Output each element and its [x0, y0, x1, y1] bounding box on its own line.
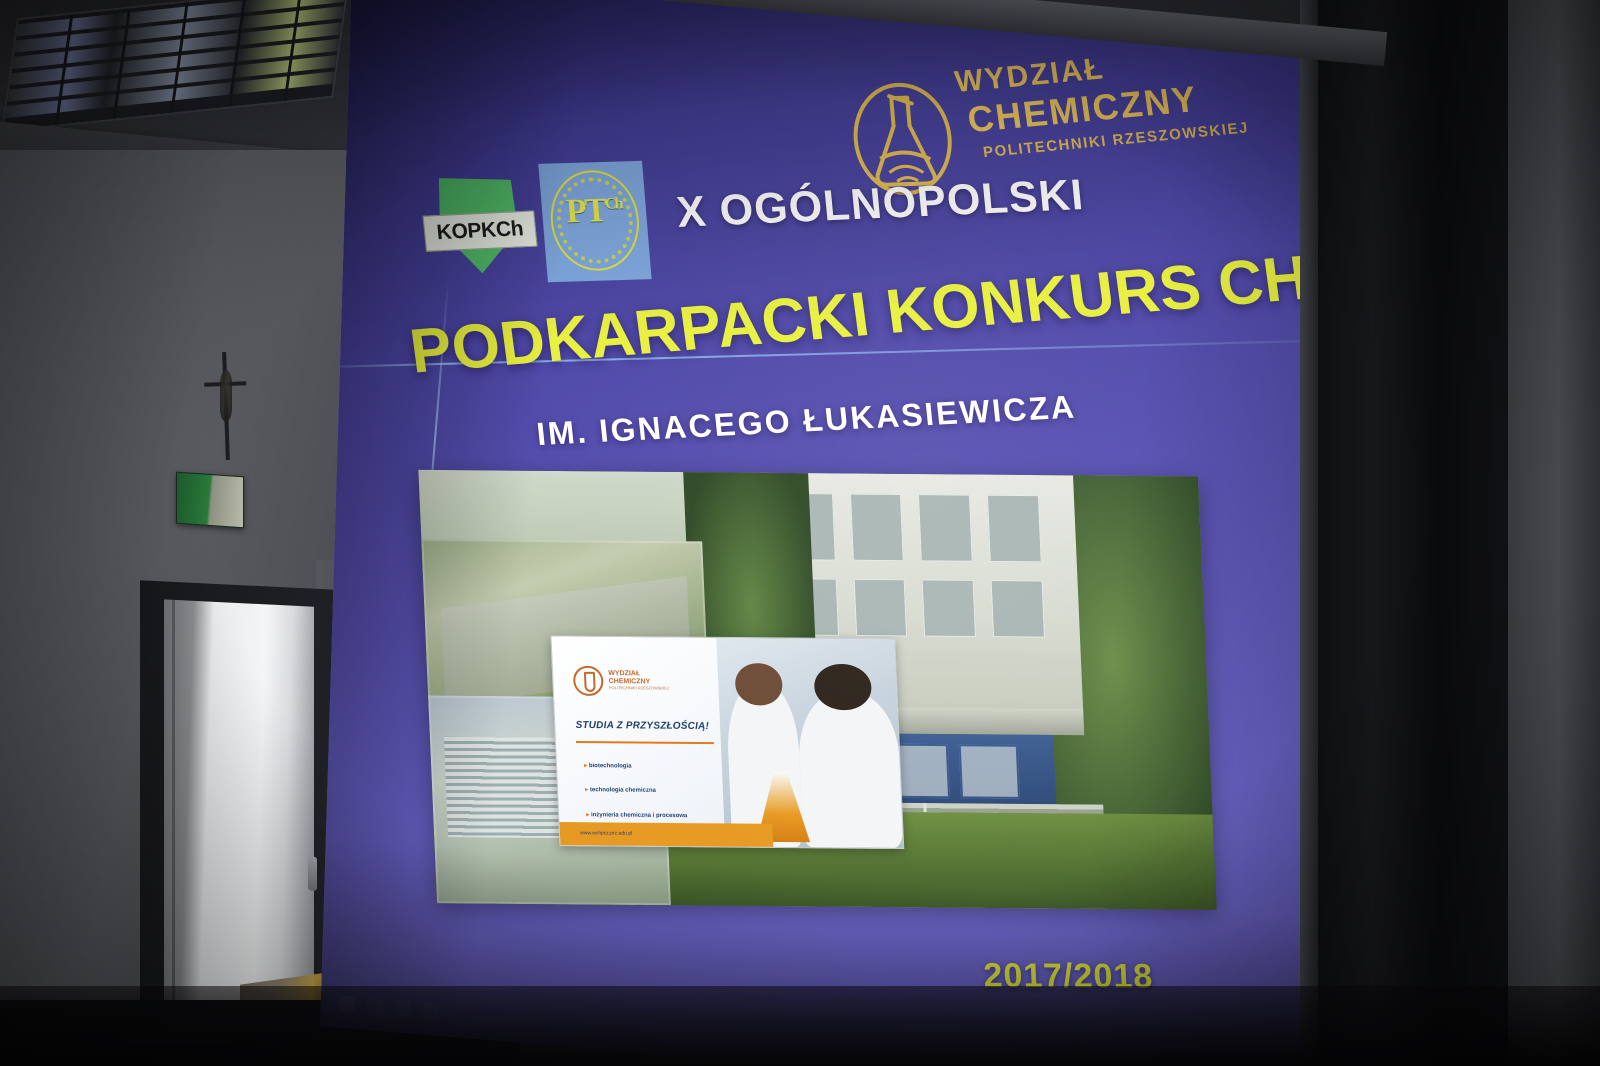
projection-screen[interactable]: WYDZIAŁ CHEMICZNY POLITECHNIKI RZESZOWSK… [320, 0, 1352, 1066]
ptch-letters: PTCh [541, 191, 648, 232]
billboard-logo-l3: POLITECHNIKI RZESZOWSKIEJ [609, 687, 669, 692]
dark-column-right [1318, 0, 1514, 1066]
billboard-headline: STUDIA Z PRZYSZŁOŚCIĄ! [575, 720, 709, 732]
billboard-bullet-3: inżynieria chemiczna i procesowa [586, 812, 687, 820]
kopkch-label: KOPKCh [436, 217, 525, 245]
billboard-url: www.wchpcz.prz.edu.pl [580, 830, 632, 836]
billboard-flask-ring-icon [573, 665, 604, 695]
far-right-wall [1508, 0, 1600, 1066]
foreground-shadow [0, 986, 1600, 1066]
billboard-bullet-1: biotechnologia [584, 762, 632, 769]
billboard-rule [576, 741, 713, 744]
kopkch-logo: KOPKCh [421, 171, 539, 297]
room-scene: WYDZIAŁ CHEMICZNY POLITECHNIKI RZESZOWSK… [0, 0, 1600, 1066]
billboard-logo: WYDZIAŁ CHEMICZNY POLITECHNIKI RZESZOWSK… [572, 653, 725, 708]
campus-photo-collage: WYDZIAŁ CHEMICZNY POLITECHNIKI RZESZOWSK… [418, 470, 1216, 910]
faculty-logo-text: WYDZIAŁ CHEMICZNY POLITECHNIKI RZESZOWSK… [955, 57, 1312, 163]
billboard-photo [716, 638, 903, 848]
kopkch-label-band: KOPKCh [423, 210, 538, 251]
ptch-logo: PTCh [538, 161, 651, 282]
billboard-logo-text: WYDZIAŁ CHEMICZNY POLITECHNIKI RZESZOWSK… [608, 670, 669, 691]
campus-billboard: WYDZIAŁ CHEMICZNY POLITECHNIKI RZESZOWSK… [550, 636, 904, 849]
billboard-bullet-2: technologia chemiczna [585, 787, 656, 795]
